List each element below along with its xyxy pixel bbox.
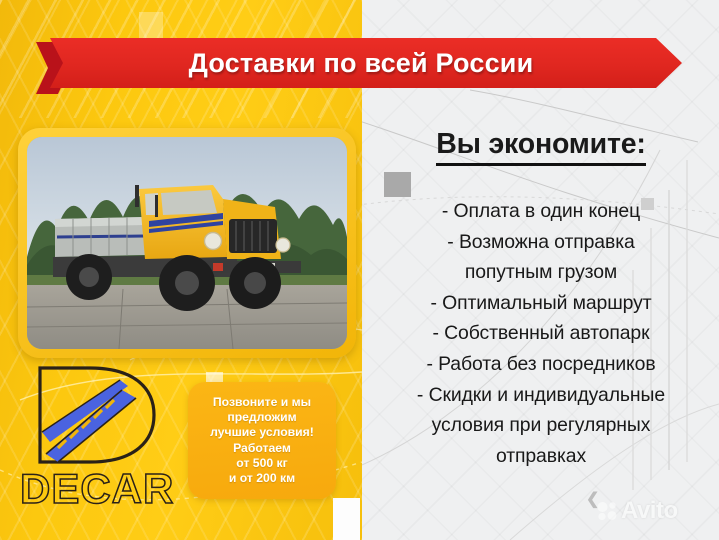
list-item: - Возможна отправка xyxy=(363,227,719,258)
decar-wordmark: DECAR xyxy=(18,466,198,512)
callout-line: от 500 кг xyxy=(236,456,287,471)
callout-line: Позвоните и мы xyxy=(213,395,311,410)
callout-line: Работаем xyxy=(233,441,291,456)
gray-square-accent xyxy=(384,172,411,197)
avito-wordmark: Avito xyxy=(621,497,678,525)
callout-line: предложим xyxy=(227,410,296,425)
benefits-list: - Оплата в один конец - Возможна отправк… xyxy=(363,196,719,471)
list-item: - Собственный автопарк xyxy=(363,318,719,349)
decar-d-road-logo-icon xyxy=(24,362,164,474)
call-us-callout-badge[interactable]: Позвоните и мы предложим лучшие условия!… xyxy=(188,382,336,499)
list-item: - Оплата в один конец xyxy=(363,196,719,227)
list-item: отправках xyxy=(363,441,719,472)
svg-text:DECAR: DECAR xyxy=(20,466,174,512)
callout-line: лучшие условия! xyxy=(210,425,314,440)
truck-photo xyxy=(27,137,347,349)
list-item: условия при регулярных xyxy=(363,410,719,441)
truck-illustration xyxy=(27,137,347,349)
list-item: - Оптимальный маршрут xyxy=(363,288,719,319)
benefits-section: Вы экономите: - Оплата в один конец - Во… xyxy=(363,0,719,540)
white-square-accent-bottom xyxy=(333,498,360,540)
list-item: - Работа без посредников xyxy=(363,349,719,380)
callout-line: и от 200 км xyxy=(229,471,295,486)
list-item: - Скидки и индивидуальные xyxy=(363,380,719,411)
avito-dots-icon xyxy=(596,501,618,521)
page-title-text: Вы экономите: xyxy=(436,128,645,166)
truck-photo-frame xyxy=(18,128,356,358)
avito-watermark: Avito xyxy=(596,497,678,525)
advertisement-banner: Доставки по всей России xyxy=(0,0,719,540)
decar-logo: DECAR xyxy=(18,362,203,517)
page-title: Вы экономите: xyxy=(363,128,719,166)
list-item: попутным грузом xyxy=(363,257,719,288)
